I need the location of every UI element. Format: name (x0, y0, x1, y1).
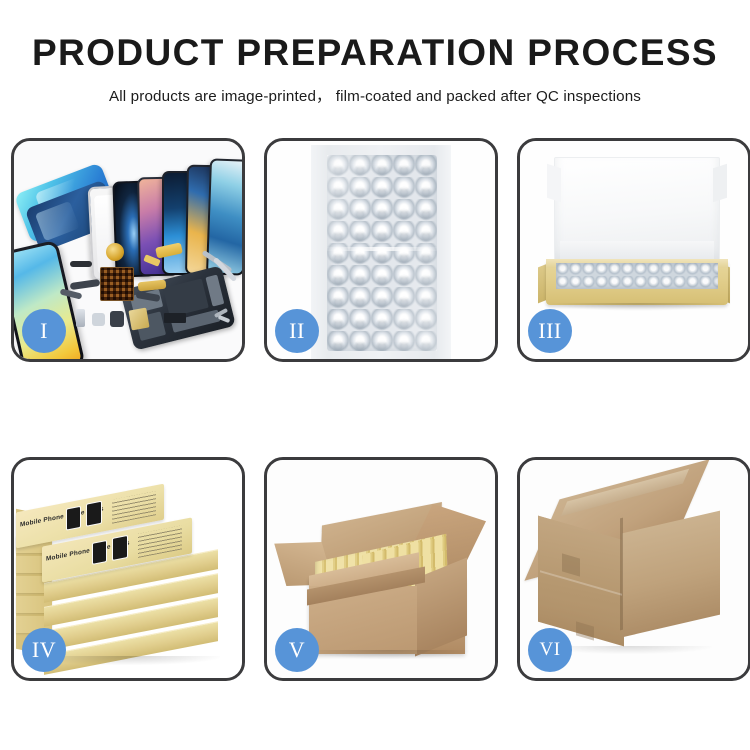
spare-part-speaker (70, 261, 92, 267)
box-label-spec-lines-2 (138, 525, 182, 558)
spare-part-button-2 (110, 311, 124, 327)
spare-part-adhesive-tape (128, 308, 149, 331)
spare-part-screw-mat (100, 267, 134, 301)
process-step-panel-3: III (517, 138, 750, 362)
process-step-panel-4: Mobile Phone Spare Parts Mobile Phone Sp… (11, 457, 245, 681)
process-step-panel-2: II (264, 138, 498, 362)
process-step-grid: I II III (0, 0, 750, 750)
spare-part-sim-tray (76, 309, 85, 327)
box-label-phone-graphic-1b (86, 501, 102, 527)
carton-shadow (309, 650, 469, 659)
step-badge-6: VI (528, 628, 572, 672)
box-label-spec-lines-1 (112, 491, 156, 524)
spare-part-vibrator-motor (106, 243, 124, 261)
spare-part-chip (164, 313, 186, 323)
process-step-panel-5: V (264, 457, 498, 681)
inner-box-shadow (550, 303, 726, 311)
step-badge-3: III (528, 309, 572, 353)
step-badge-1: I (22, 309, 66, 353)
sealed-carton-vertical-seam (620, 518, 623, 631)
box-label-phone-graphic-1a (66, 506, 81, 531)
step-badge-2: II (275, 309, 319, 353)
process-step-panel-6: VI (517, 457, 750, 681)
step-badge-5: V (275, 628, 319, 672)
inner-box-bubble-contents (556, 263, 718, 289)
bubble-wrap-gloss (327, 155, 437, 351)
frame-component-shield (163, 278, 209, 317)
step-badge-4: IV (22, 628, 66, 672)
box-label-phone-graphic-2a (92, 540, 107, 565)
box-label-phone-graphic-2b (112, 535, 128, 561)
frame-component-side (205, 275, 224, 307)
process-step-panel-1: I (11, 138, 245, 362)
spare-part-button-1 (92, 313, 105, 326)
